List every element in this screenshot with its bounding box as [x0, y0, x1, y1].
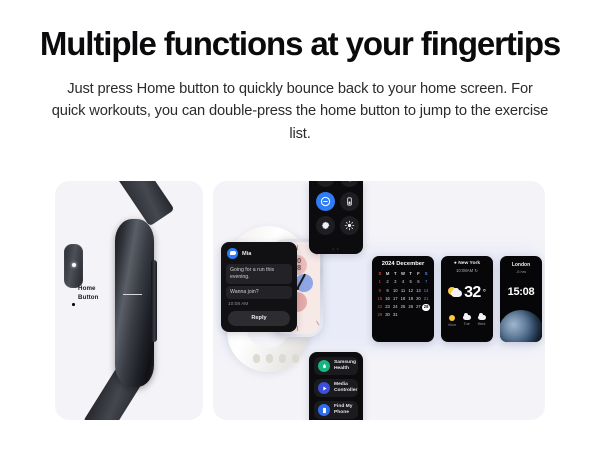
weather-city: ● New York — [445, 261, 489, 266]
calendar-day-cell[interactable]: 31 — [391, 311, 399, 319]
calendar-day-cell[interactable]: 7 — [422, 278, 430, 286]
watch-glass-edge — [151, 260, 157, 342]
forecast-day-label: Tue — [463, 322, 471, 326]
cloudy-icon — [478, 315, 486, 320]
forecast-day: Mon — [448, 315, 455, 327]
find-my-phone-icon — [318, 404, 330, 416]
reply-button[interactable]: Reply — [228, 311, 290, 326]
calendar-empty-cell — [415, 311, 423, 319]
watch-screens-panel: 10 08 Mia Going for a run this evening. … — [213, 181, 545, 420]
do-not-disturb-icon[interactable] — [316, 192, 335, 211]
calendar-day-cell[interactable]: 23 — [384, 303, 392, 311]
weather-current: 32 ° — [445, 284, 489, 302]
calendar-day-cell[interactable]: 20 — [415, 295, 423, 303]
weather-degree-symbol: ° — [483, 288, 486, 297]
earth-globe-icon — [500, 310, 542, 342]
calendar-day-cell[interactable]: 29 — [376, 311, 384, 319]
calendar-weekday-header: M — [384, 270, 392, 278]
promo-page: Multiple functions at your fingertips Ju… — [0, 0, 600, 450]
world-clock-time: 15:08 — [500, 286, 542, 298]
app-list-item[interactable]: Media Controller — [314, 379, 358, 397]
message-sender-name: Mia — [242, 251, 251, 257]
calendar-day-cell[interactable]: 15 — [376, 295, 384, 303]
app-label: Find My Phone — [334, 404, 352, 416]
page-title: Multiple functions at your fingertips — [0, 27, 600, 62]
weather-time-label: 10:08AM — [456, 268, 473, 273]
app-label-line-2: Health — [334, 366, 356, 372]
calendar-day-cell[interactable]: 18 — [399, 295, 407, 303]
partly-cloudy-icon — [448, 287, 462, 298]
calendar-weekday-header: W — [399, 270, 407, 278]
app-label-line-2: Controller — [334, 388, 357, 394]
watch-body-side — [115, 219, 154, 387]
message-header: Mia — [221, 242, 297, 262]
calendar-empty-cell — [422, 311, 430, 319]
calendar-weekday-header: S — [376, 270, 384, 278]
calendar-day-cell[interactable]: 27 — [415, 303, 423, 311]
calendar-weekday-header: T — [407, 270, 415, 278]
message-app-icon — [227, 248, 238, 259]
message-bubble-2: Wanna join? — [226, 286, 292, 299]
app-list-panel[interactable]: Samsung Health Media Controller — [309, 352, 363, 420]
calendar-empty-cell — [407, 311, 415, 319]
calendar-weekday-header: F — [415, 270, 423, 278]
settings-gear-icon[interactable] — [316, 216, 335, 235]
world-clock-card[interactable]: London -5 hrs 15:08 — [500, 256, 542, 342]
calendar-day-cell[interactable]: 5 — [407, 278, 415, 286]
band-holes — [253, 354, 301, 364]
quick-settings-panel[interactable]: • • — [309, 181, 363, 254]
calendar-day-cell[interactable]: 2 — [384, 278, 392, 286]
microphone-hole-icon — [72, 303, 75, 306]
calendar-card[interactable]: 2024 December SMTWTFS1234567891011121314… — [372, 256, 434, 342]
watch-side-view-panel: Home Button — [55, 181, 203, 420]
sunny-icon — [449, 315, 455, 321]
calendar-day-cell[interactable]: 4 — [399, 278, 407, 286]
calendar-title: 2024 December — [376, 261, 430, 267]
callout-line-2: Button — [78, 293, 122, 302]
calendar-day-cell[interactable]: 12 — [407, 287, 415, 295]
quick-settings-grid — [309, 181, 363, 241]
app-label: Media Controller — [334, 382, 357, 394]
world-clock-offset: -5 hrs — [500, 269, 542, 274]
world-clock-city: London — [500, 262, 542, 268]
calendar-grid[interactable]: SMTWTFS123456789101112131415161718192021… — [376, 270, 430, 320]
callout-line-1: Home — [78, 284, 122, 293]
page-subtitle: Just press Home button to quickly bounce… — [50, 78, 550, 145]
calendar-day-cell[interactable]: 28 — [422, 303, 430, 311]
calendar-empty-cell — [399, 311, 407, 319]
location-pin-icon: ● — [454, 261, 457, 266]
weather-card[interactable]: ● New York 10:08AM ↻ 32 ° Mon — [441, 256, 493, 342]
quick-tile-partial-left[interactable] — [316, 181, 335, 187]
callout-leader-line — [123, 294, 142, 295]
calendar-day-cell[interactable]: 17 — [391, 295, 399, 303]
refresh-icon[interactable]: ↻ — [474, 268, 478, 273]
weather-city-label: New York — [458, 261, 480, 266]
calendar-day-cell[interactable]: 25 — [399, 303, 407, 311]
weather-temperature: 32 — [464, 284, 481, 302]
quick-tile-partial-right[interactable] — [340, 181, 359, 187]
calendar-day-cell[interactable]: 1 — [376, 278, 384, 286]
home-button-callout-label: Home Button — [78, 284, 122, 303]
calendar-day-cell[interactable]: 8 — [376, 287, 384, 295]
forecast-day: Tue — [463, 315, 471, 327]
calendar-day-cell[interactable]: 30 — [384, 311, 392, 319]
home-button-indicator-dot — [72, 263, 76, 267]
battery-icon[interactable] — [340, 192, 359, 211]
app-list-item[interactable]: Samsung Health — [314, 357, 358, 375]
calendar-day-cell[interactable]: 11 — [399, 287, 407, 295]
calendar-day-cell[interactable]: 9 — [384, 287, 392, 295]
message-notification-card[interactable]: Mia Going for a run this evening. Wanna … — [221, 242, 297, 332]
weather-forecast: Mon Tue Wed — [445, 315, 489, 327]
calendar-day-cell[interactable]: 10 — [391, 287, 399, 295]
calendar-day-cell[interactable]: 16 — [384, 295, 392, 303]
calendar-day-cell[interactable]: 26 — [407, 303, 415, 311]
weather-time: 10:08AM ↻ — [445, 268, 489, 274]
brightness-icon[interactable] — [340, 216, 359, 235]
calendar-weekday-header: S — [422, 270, 430, 278]
forecast-day-label: Wed — [478, 322, 486, 326]
forecast-day-label: Mon — [448, 323, 455, 327]
calendar-day-cell[interactable]: 21 — [422, 295, 430, 303]
calendar-day-cell[interactable]: 3 — [391, 278, 399, 286]
forecast-day: Wed — [478, 315, 486, 327]
app-label: Samsung Health — [334, 360, 356, 372]
calendar-day-cell[interactable]: 6 — [415, 278, 423, 286]
cloudy-icon — [463, 315, 471, 320]
message-bubble-1: Going for a run this evening. — [226, 264, 292, 284]
calendar-day-cell[interactable]: 13 — [415, 287, 423, 295]
calendar-day-cell[interactable]: 22 — [376, 303, 384, 311]
app-list-item[interactable]: Find My Phone — [314, 401, 358, 419]
calendar-day-cell[interactable]: 19 — [407, 295, 415, 303]
quick-settings-page-dots: • • — [309, 246, 363, 251]
samsung-health-icon — [318, 360, 330, 372]
app-label-line-2: Phone — [334, 410, 352, 416]
calendar-day-cell[interactable]: 14 — [422, 287, 430, 295]
media-controller-icon — [318, 382, 330, 394]
calendar-weekday-header: T — [391, 270, 399, 278]
message-timestamp: 10:08 AM — [221, 301, 297, 307]
watch-strap-top — [115, 181, 175, 226]
calendar-day-cell[interactable]: 24 — [391, 303, 399, 311]
